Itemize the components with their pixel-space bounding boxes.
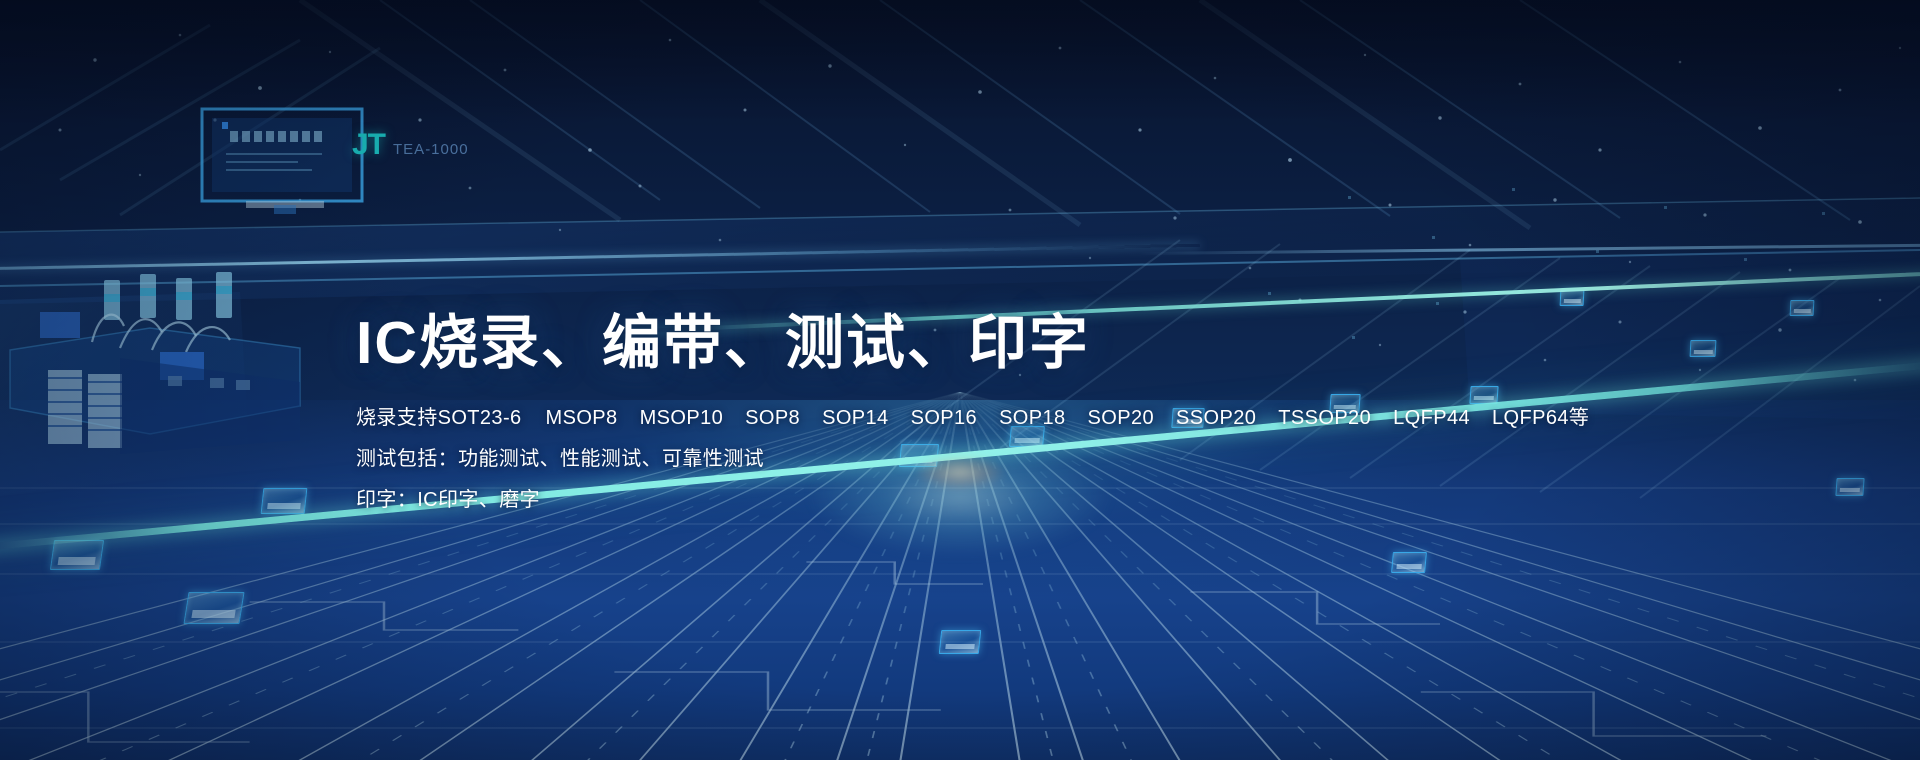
package-item: SOP18 [999,408,1065,428]
package-item: MSOP8 [546,408,618,428]
ic-chip [1391,552,1427,573]
marking-scope-line: 印字：IC印字、磨字 [356,490,1616,510]
package-item: SOP14 [822,408,888,428]
testing-scope-line: 测试包括：功能测试、性能测试、可靠性测试 [356,449,1616,469]
package-item: SOP8 [745,408,800,428]
package-item: SOP20 [1088,408,1154,428]
package-item: MSOP10 [640,408,724,428]
hero-copy: IC烧录、编带、测试、印字 烧录支持SOT23-6 MSOP8 MSOP10 S… [356,312,1616,531]
ic-chip [1690,340,1717,357]
package-support-line: 烧录支持SOT23-6 MSOP8 MSOP10 SOP8 SOP14 SOP1… [356,408,1616,428]
page-title: IC烧录、编带、测试、印字 [356,312,1616,376]
package-item: SSOP20 [1176,408,1256,428]
ic-chip [261,488,308,514]
package-item: LQFP64 [1492,408,1569,428]
ic-chip [1790,300,1815,316]
package-item: SOP16 [911,408,977,428]
package-support-lead: 烧录支持SOT23-6 [356,408,522,428]
ic-chip [1835,478,1864,496]
ic-chip [939,630,982,654]
package-item: TSSOP20 [1278,408,1371,428]
package-item: LQFP44 [1393,408,1470,428]
ic-chip [183,592,244,624]
ic-chip [50,540,104,570]
package-suffix: 等 [1569,408,1589,428]
hero-subtext-list: 烧录支持SOT23-6 MSOP8 MSOP10 SOP8 SOP14 SOP1… [356,408,1616,510]
hero-banner: JT TEA-1000 [0,0,1920,760]
ic-chip [1560,290,1585,306]
